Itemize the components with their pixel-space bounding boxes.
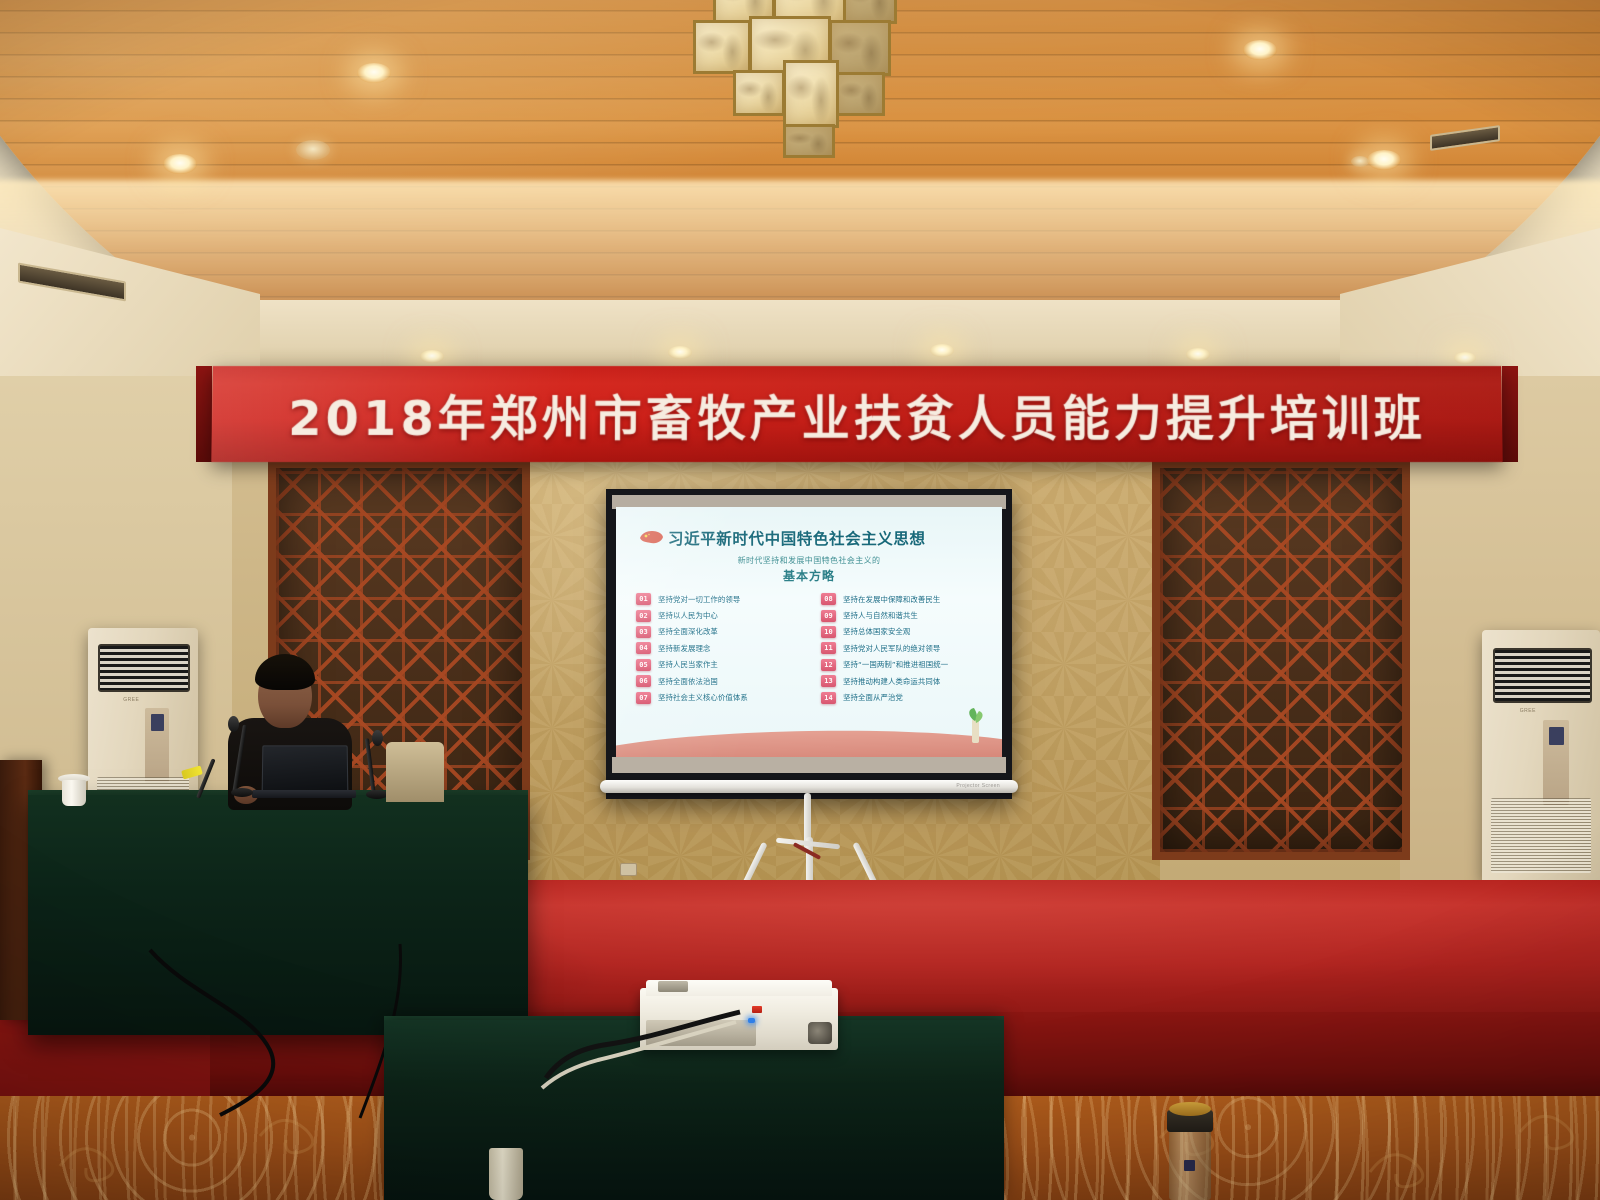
ceiling-downlight [357, 63, 391, 83]
recessed-spotlight [420, 350, 444, 363]
ac-control-panel [1543, 720, 1569, 805]
projector-lens [808, 1022, 832, 1044]
slide-canvas: 习近平新时代中国特色社会主义思想 新时代坚持和发展中国特色社会主义的 基本方略 … [616, 507, 1002, 769]
screen-roller-bar: Projector Screen [600, 780, 1018, 793]
ceiling-downlight [1243, 40, 1277, 60]
slide-item-number: 06 [636, 675, 651, 687]
slide-item-number: 11 [821, 642, 836, 654]
screen-brand-label: Projector Screen [956, 783, 1000, 789]
screen-bottom-margin [612, 757, 1006, 773]
slide-item-text: 坚持新发展理念 [658, 643, 710, 654]
slide-item-text: 坚持总体国家安全观 [843, 626, 910, 637]
slide-item-number: 08 [821, 593, 836, 605]
event-banner: 2018年郑州市畜牧产业扶贫人员能力提升培训班 [211, 366, 1502, 462]
chair [386, 742, 444, 802]
ceiling-downlight [296, 140, 330, 160]
presenter-hair [255, 654, 315, 690]
recessed-spotlight [1186, 348, 1210, 361]
slide-item-number: 02 [636, 610, 651, 622]
slide-list-item: 02坚持以人民为中心 [636, 607, 809, 623]
slide-item-number: 01 [636, 593, 651, 605]
slide-list-item: 06坚持全面依法治国 [636, 673, 809, 689]
ac-brand-label: GREE [1520, 708, 1536, 714]
banner-right-edge [1502, 366, 1518, 462]
slide-item-columns: 01坚持党对一切工作的领导02坚持以人民为中心03坚持全面深化改革04坚持新发展… [616, 591, 1002, 706]
slide-item-text: 坚持以人民为中心 [658, 610, 718, 621]
microphone-base [231, 788, 253, 797]
slide-item-number: 10 [821, 626, 836, 638]
slide-item-text: 坚持党对人民军队的绝对领导 [843, 643, 940, 654]
ac-intake-grille [1491, 798, 1590, 873]
slide-subtitle-line2: 基本方略 [616, 567, 1002, 584]
slide-item-number: 13 [821, 675, 836, 687]
ac-control-panel [145, 708, 169, 783]
wooden-lattice-screen-right [1152, 460, 1410, 860]
slide-item-text: 坚持在发展中保障和改善民生 [843, 594, 940, 605]
recessed-spotlight [1454, 352, 1476, 364]
slide-item-number: 04 [636, 642, 651, 654]
thermos-label [1184, 1160, 1195, 1171]
glass-thermos[interactable] [1165, 1098, 1215, 1200]
slide-list-item: 10坚持总体国家安全观 [821, 624, 1002, 640]
slide-list-item: 12坚持“一国两制”和推进祖国统一 [821, 657, 1002, 673]
projector-vent [658, 981, 688, 992]
projector-cables [540, 1000, 760, 1090]
ceiling-downlight [1351, 156, 1369, 167]
slide-item-text: 坚持社会主义核心价值体系 [658, 692, 748, 703]
slide-item-number: 05 [636, 659, 651, 671]
slide-item-text: 坚持全面依法治国 [658, 676, 718, 687]
slide-item-text: 坚持全面深化改革 [658, 626, 718, 637]
slide-list-item: 13坚持推动构建人类命运共同体 [821, 673, 1002, 689]
recessed-spotlight [668, 346, 692, 359]
microphone-head [372, 730, 383, 746]
slide-list-item: 09坚持人与自然和谐共生 [821, 607, 1002, 623]
slide-subtitle-line1: 新时代坚持和发展中国特色社会主义的 [616, 555, 1002, 566]
slide-item-number: 14 [821, 692, 836, 704]
ceiling-chandelier [685, 0, 915, 176]
slide-list-item: 01坚持党对一切工作的领导 [636, 591, 809, 607]
wall-power-outlet [620, 863, 637, 876]
slide-list-item: 05坚持人民当家作主 [636, 657, 809, 673]
slide-item-text: 坚持人民当家作主 [658, 659, 718, 670]
ac-louver-vent [98, 644, 190, 693]
slide-list-item: 11坚持党对人民军队的绝对领导 [821, 640, 1002, 656]
thermos-lid [1169, 1102, 1211, 1116]
banner-left-edge [196, 366, 212, 462]
microphone-head [228, 716, 239, 732]
banner-title-text: 2018年郑州市畜牧产业扶贫人员能力提升培训班 [288, 379, 1427, 449]
slide-item-number: 09 [821, 610, 836, 622]
slide-item-text: 坚持“一国两制”和推进祖国统一 [843, 659, 948, 670]
ac-louver-vent [1493, 648, 1592, 703]
slide-list-item: 03坚持全面深化改革 [636, 624, 809, 640]
slide-item-text: 坚持全面从严治党 [843, 692, 903, 703]
slide-list-item: 04坚持新发展理念 [636, 640, 809, 656]
microphone-base [366, 790, 388, 799]
recessed-spotlight [930, 344, 954, 357]
laptop-base [252, 790, 356, 798]
sprout-graphic [962, 705, 988, 745]
laptop[interactable] [262, 745, 349, 793]
ac-brand-label: GREE [123, 697, 139, 703]
slide-column-right: 08坚持在发展中保障和改善民生09坚持人与自然和谐共生10坚持总体国家安全观11… [809, 591, 1002, 706]
ceiling-downlight [1367, 150, 1401, 170]
ceiling-downlight [163, 154, 197, 174]
slide-item-text: 坚持人与自然和谐共生 [843, 610, 918, 621]
slide-list-item: 08坚持在发展中保障和改善民生 [821, 591, 1002, 607]
slide-list-item: 07坚持社会主义核心价值体系 [636, 689, 809, 705]
air-conditioner-right: GREE [1482, 630, 1600, 880]
slide-item-number: 03 [636, 626, 651, 638]
projection-screen: 习近平新时代中国特色社会主义思想 新时代坚持和发展中国特色社会主义的 基本方略 … [606, 489, 1012, 799]
slide-item-text: 坚持党对一切工作的领导 [658, 594, 740, 605]
foreground-paper-cup [489, 1148, 523, 1200]
slide-title: 习近平新时代中国特色社会主义思想 [668, 527, 926, 549]
slide-item-text: 坚持推动构建人类命运共同体 [843, 676, 940, 687]
paper-cup [62, 780, 86, 806]
slide-column-left: 01坚持党对一切工作的领导02坚持以人民为中心03坚持全面深化改革04坚持新发展… [616, 591, 809, 706]
conference-hall-photo: 2018年郑州市畜牧产业扶贫人员能力提升培训班 习近平新时代中国特色社会主义思想… [0, 0, 1600, 1200]
slide-item-number: 12 [821, 659, 836, 671]
china-map-icon [638, 529, 664, 545]
slide-item-number: 07 [636, 692, 651, 704]
slide-list-item: 14坚持全面从严治党 [821, 689, 1002, 705]
